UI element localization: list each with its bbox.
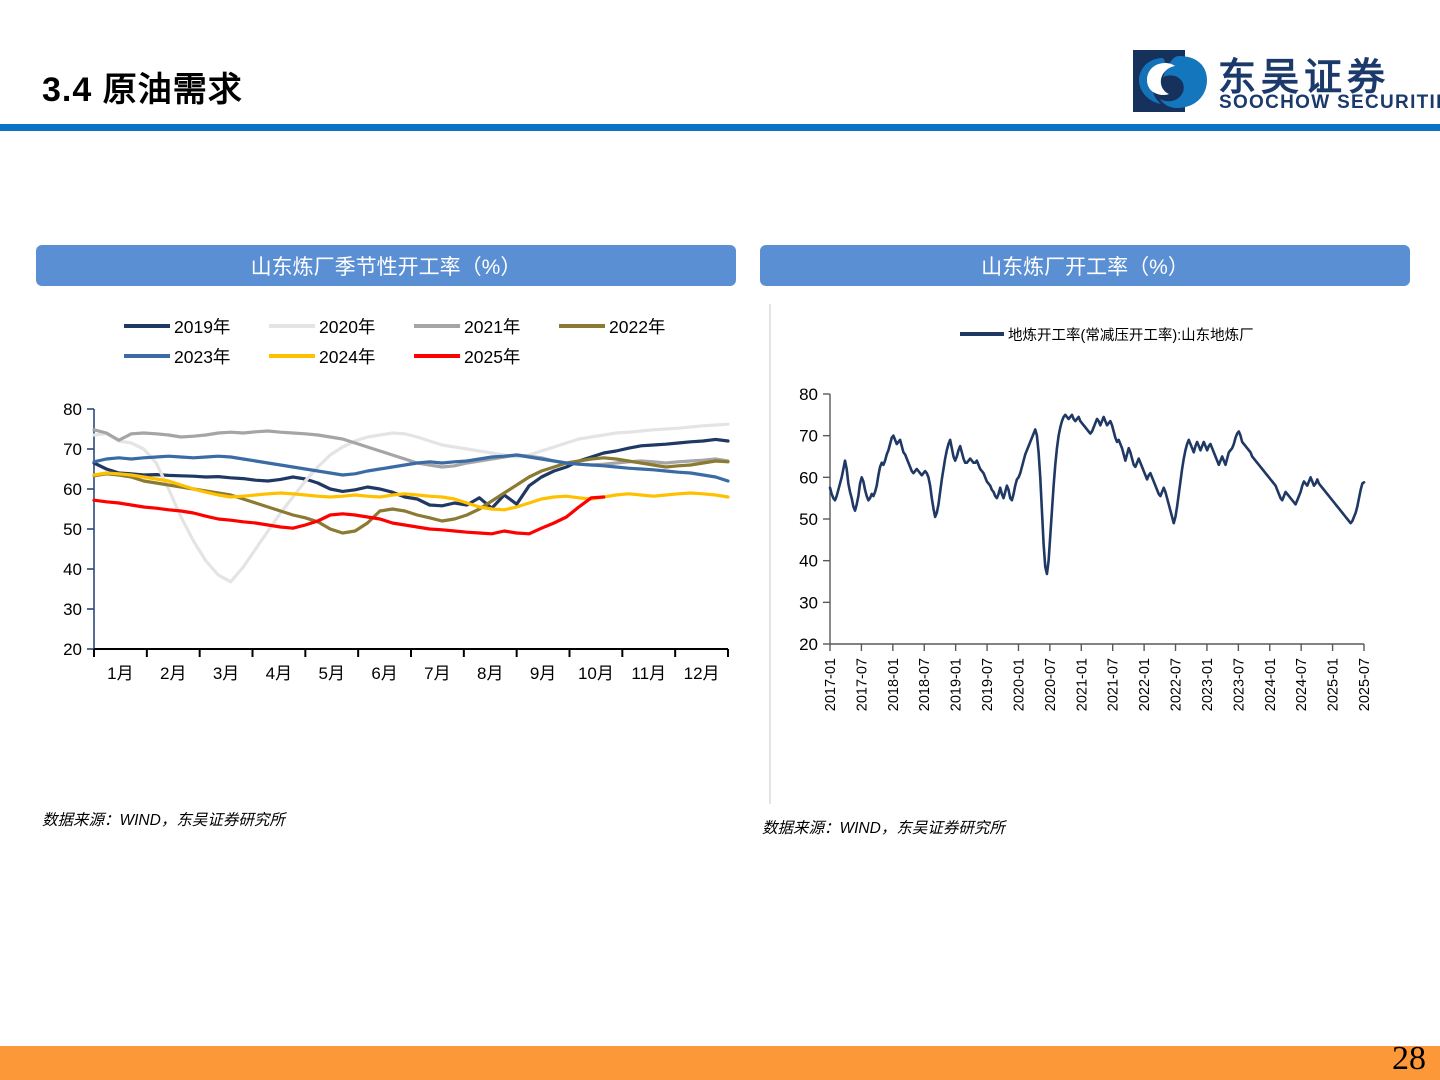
series-line-2024年	[94, 473, 728, 510]
x-tick-label: 2023-07	[1231, 658, 1247, 711]
chart-legend: 2019年2020年2021年2022年2023年2024年2025年	[124, 317, 665, 367]
y-tick-label: 80	[63, 400, 82, 419]
x-tick-label: 2019-07	[980, 658, 996, 711]
chart-seasonal-utilization: 2019年2020年2021年2022年2023年2024年2025年20304…	[36, 304, 736, 804]
x-tick-label: 2024-07	[1294, 658, 1310, 711]
x-tick-label: 2025-01	[1326, 658, 1342, 711]
x-tick-label: 2020-01	[1012, 658, 1028, 711]
x-tick-label: 2017-07	[854, 658, 870, 711]
logo-english-name: SOOCHOW SECURITIES	[1219, 92, 1440, 114]
x-tick-label: 9月	[530, 664, 556, 683]
source-note-left: 数据来源：WIND，东吴证券研究所	[42, 808, 285, 830]
y-tick-label: 30	[63, 600, 82, 619]
brand-logo: 东吴证券 SOOCHOW SECURITIES	[1133, 48, 1418, 120]
page-number: 28	[1392, 1042, 1426, 1076]
x-tick-label: 2022-07	[1169, 658, 1185, 711]
x-tick-label: 11月	[631, 664, 666, 683]
y-tick-label: 70	[63, 440, 82, 459]
chart-seasonal-utilization-svg: 2019年2020年2021年2022年2023年2024年2025年20304…	[36, 304, 736, 724]
series-line-2019年	[94, 439, 728, 508]
panel-refinery-utilization: 山东炼厂开工率（%） 地炼开工率(常减压开工率):山东地炼厂2030405060…	[760, 245, 1410, 804]
legend-label-2025年: 2025年	[464, 347, 520, 367]
x-tick-label: 7月	[424, 664, 450, 683]
x-tick-label: 10月	[578, 664, 614, 683]
x-tick-label: 2021-01	[1074, 658, 1090, 711]
x-tick-label: 2020-07	[1043, 658, 1059, 711]
y-tick-label: 60	[799, 468, 818, 487]
x-tick-label: 12月	[684, 664, 720, 683]
legend-label-2021年: 2021年	[464, 317, 520, 337]
x-tick-label: 2023-01	[1200, 658, 1216, 711]
legend-label-2024年: 2024年	[319, 347, 375, 367]
y-tick-label: 50	[63, 520, 82, 539]
chart-refinery-utilization-svg: 地炼开工率(常减压开工率):山东地炼厂203040506070802017-01…	[760, 304, 1410, 804]
legend-label-2020年: 2020年	[319, 317, 375, 337]
x-tick-label: 4月	[266, 664, 292, 683]
y-tick-label: 30	[799, 593, 818, 612]
x-tick-label: 3月	[213, 664, 239, 683]
y-tick-label: 60	[63, 480, 82, 499]
page-title: 3.4 原油需求	[42, 62, 243, 111]
panel-seasonal-utilization: 山东炼厂季节性开工率（%） 2019年2020年2021年2022年2023年2…	[36, 245, 736, 804]
legend-label-2023年: 2023年	[174, 347, 230, 367]
y-tick-label: 70	[799, 427, 818, 446]
x-tick-label: 5月	[319, 664, 345, 683]
y-tick-label: 40	[63, 560, 82, 579]
x-tick-label: 2018-07	[917, 658, 933, 711]
y-tick-label: 40	[799, 552, 818, 571]
y-tick-label: 20	[63, 640, 82, 659]
soochow-s-mark-icon	[1133, 50, 1209, 112]
header-divider-rule	[0, 124, 1440, 131]
x-tick-label: 2月	[160, 664, 186, 683]
y-tick-label: 80	[799, 385, 818, 404]
x-tick-label: 1月	[107, 664, 133, 683]
panel-right-title: 山东炼厂开工率（%）	[760, 245, 1410, 286]
x-tick-label: 2018-01	[886, 658, 902, 711]
x-tick-label: 2025-07	[1357, 658, 1373, 711]
x-tick-label: 2024-01	[1263, 658, 1279, 711]
panel-left-title: 山东炼厂季节性开工率（%）	[36, 245, 736, 286]
series-line-utilization	[830, 415, 1364, 574]
chart-refinery-utilization: 地炼开工率(常减压开工率):山东地炼厂203040506070802017-01…	[760, 304, 1410, 804]
x-tick-label: 2017-01	[823, 658, 839, 711]
legend-label-2022年: 2022年	[609, 317, 665, 337]
legend-label-2019年: 2019年	[174, 317, 230, 337]
slide-header: 3.4 原油需求 东吴证券 SOOCHOW SECURITIES	[0, 0, 1440, 128]
y-tick-label: 20	[799, 635, 818, 654]
source-note-right: 数据来源：WIND，东吴证券研究所	[762, 816, 1005, 838]
x-tick-label: 6月	[371, 664, 397, 683]
x-tick-label: 8月	[477, 664, 503, 683]
x-tick-label: 2022-01	[1137, 658, 1153, 711]
footer-bar	[0, 1046, 1440, 1080]
x-tick-label: 2021-07	[1106, 658, 1122, 711]
legend-label: 地炼开工率(常减压开工率):山东地炼厂	[1008, 327, 1254, 344]
y-tick-label: 50	[799, 510, 818, 529]
x-tick-label: 2019-01	[949, 658, 965, 711]
